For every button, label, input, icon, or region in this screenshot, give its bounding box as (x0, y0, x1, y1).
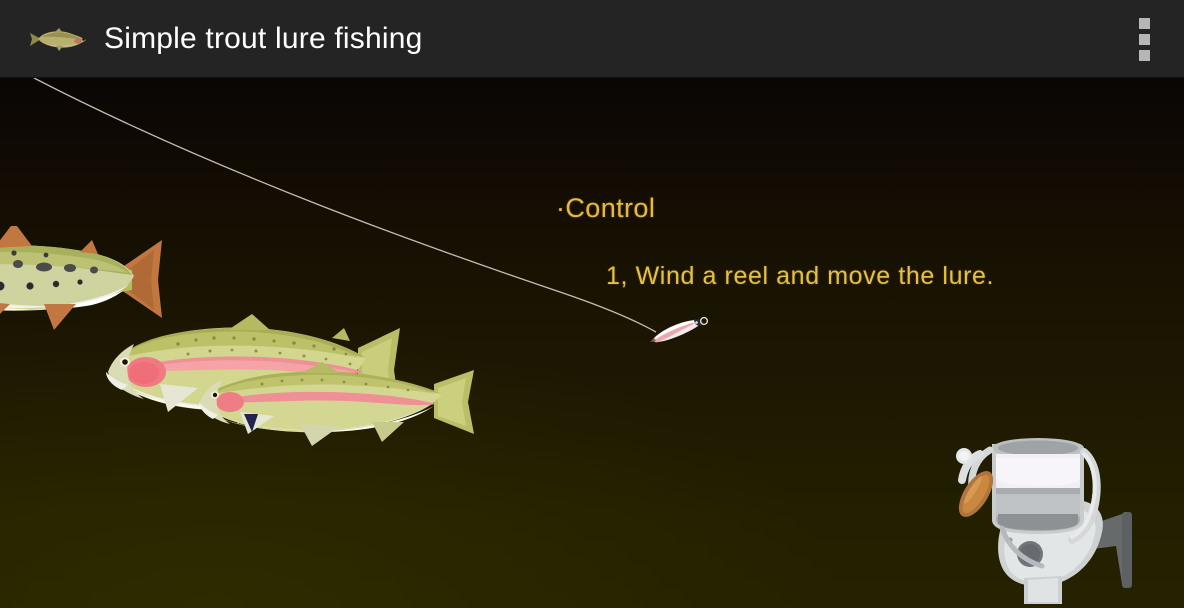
rainbow-trout-small[interactable] (196, 362, 480, 448)
overflow-dot-2 (1139, 34, 1150, 45)
page-title: Simple trout lure fishing (104, 24, 422, 54)
game-stage[interactable]: ·Control 1, Wind a reel and move the lur… (0, 78, 1184, 608)
lure[interactable] (648, 312, 712, 344)
control-heading: ·Control (556, 193, 655, 224)
app-window: Simple trout lure fishing (0, 0, 1184, 608)
overflow-dot-1 (1139, 18, 1150, 29)
trout-icon (28, 24, 90, 54)
spinning-reel[interactable] (946, 428, 1150, 608)
instruction-item-1: 1, Wind a reel and move the lure. (606, 262, 994, 291)
overflow-dot-3 (1139, 50, 1150, 61)
overflow-menu-icon[interactable] (1104, 0, 1184, 78)
title-bar: Simple trout lure fishing (0, 0, 1184, 78)
